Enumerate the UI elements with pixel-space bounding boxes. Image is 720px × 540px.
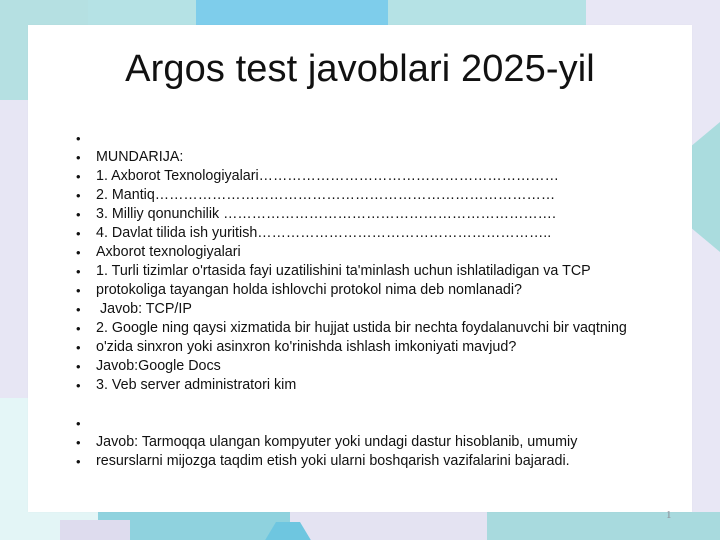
bullet-line: o'zida sinxron yoki asinxron ko'rinishda…: [48, 338, 688, 357]
bullet-line: 1. Axborot Texnologiyalari………………………………………: [48, 167, 688, 186]
bullet-line: MUNDARIJA:: [48, 148, 688, 167]
bullet-line: Javob: Tarmoqqa ulangan kompyuter yoki u…: [48, 433, 688, 452]
bullet-line: 4. Davlat tilida ish yuritish………………………………: [48, 224, 688, 243]
bullet-line: 2. Google ning qaysi xizmatida bir hujja…: [48, 319, 688, 338]
bullet-line: [48, 129, 688, 148]
bullet-line: Javob: TCP/IP: [48, 300, 688, 319]
slide-title: Argos test javoblari 2025-yil: [28, 46, 692, 92]
bullet-line: 2. Mantiq…………………………………………………………………………: [48, 186, 688, 205]
bullet-line: Javob:Google Docs: [48, 357, 688, 376]
decoration-bottom-lavender-block: [290, 512, 490, 540]
bullet-line: 3. Milliy qonunchilik …………………………………………………: [48, 205, 688, 224]
presentation-slide: Argos test javoblari 2025-yil MUNDARIJA:…: [0, 0, 720, 540]
slide-page-number: 1: [666, 508, 686, 522]
bullet-line: 3. Veb server administratori kim: [48, 376, 688, 395]
bullet-line: protokoliga tayangan holda ishlovchi pro…: [48, 281, 688, 300]
slide-content-card: Argos test javoblari 2025-yil MUNDARIJA:…: [28, 25, 692, 512]
bullet-line: [48, 414, 688, 433]
decoration-bottom-lavender-wedge: [60, 520, 130, 540]
bullet-line: resurslarni mijozga taqdim etish yoki ul…: [48, 452, 688, 471]
bullet-line: 1. Turli tizimlar o'rtasida fayi uzatili…: [48, 262, 688, 281]
slide-body-bullet-list: MUNDARIJA:1. Axborot Texnologiyalari……………: [48, 129, 688, 471]
bullet-line: Axborot texnologiyalari: [48, 243, 688, 262]
bullet-line: [48, 395, 688, 414]
